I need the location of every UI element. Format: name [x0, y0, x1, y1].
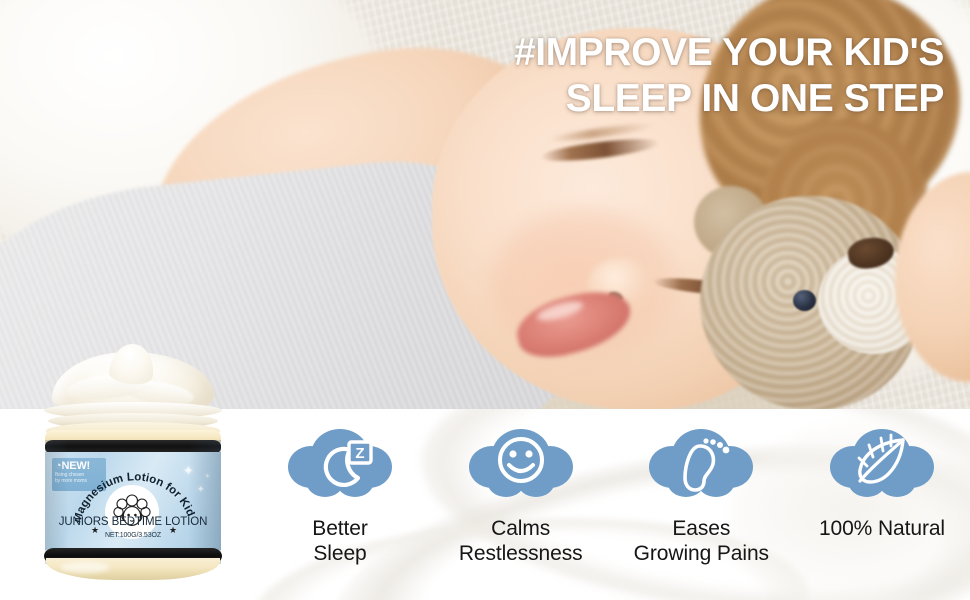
product-name: JUNIORS BEDTIME LOTION	[45, 516, 221, 529]
benefits-list: Z Better Sleep	[252, 423, 970, 593]
cloud-badge	[462, 423, 580, 507]
benefit-item-growing-pains: Eases Growing Pains	[613, 423, 789, 566]
benefit-item-better-sleep: Z Better Sleep	[252, 423, 428, 566]
benefit-label-line-2: Restlessness	[459, 541, 583, 566]
leaf-icon	[823, 423, 941, 507]
benefit-label-line-2: Growing Pains	[634, 541, 769, 566]
benefit-label-line-1: Calms	[459, 516, 583, 541]
hero-photo: #IMPROVE YOUR KID'S SLEEP IN ONE STEP	[0, 0, 970, 409]
benefit-label-line-1: Eases	[634, 516, 769, 541]
svg-text:Z: Z	[355, 445, 364, 462]
sparkle-icon: ✦	[205, 472, 210, 482]
teddy-bear-eye	[793, 290, 816, 311]
page-title: #IMPROVE YOUR KID'S SLEEP IN ONE STEP	[364, 30, 944, 122]
net-weight: NET:100G/3.53OZ	[45, 531, 221, 540]
cloud-badge: Z	[281, 423, 399, 507]
benefit-label-line-1: Better	[312, 516, 367, 541]
jar-label: ✦ ✦ ✦ ✦ ◔NEW! Being chosen by more moms …	[45, 452, 221, 550]
benefit-item-natural: 100% Natural	[794, 423, 970, 541]
headline-line-1: #IMPROVE YOUR KID'S	[364, 30, 944, 76]
footprint-icon	[642, 423, 760, 507]
benefit-label: Calms Restlessness	[459, 516, 583, 566]
smiley-face-icon	[462, 423, 580, 507]
benefit-label: 100% Natural	[819, 516, 945, 541]
product-banner: #IMPROVE YOUR KID'S SLEEP IN ONE STEP	[0, 0, 970, 600]
benefit-item-calms-restlessness: Calms Restlessness	[433, 423, 609, 566]
jar-base-highlight	[60, 562, 110, 573]
headline-line-2: SLEEP IN ONE STEP	[364, 76, 944, 122]
benefit-label: Better Sleep	[312, 516, 367, 566]
moon-zzz-icon: Z	[281, 423, 399, 507]
benefit-label-line-1: 100% Natural	[819, 516, 945, 541]
benefit-label-line-2: Sleep	[312, 541, 367, 566]
benefit-label: Eases Growing Pains	[634, 516, 769, 566]
cloud-badge	[823, 423, 941, 507]
sparkle-icon: ✦	[197, 484, 205, 494]
product-jar: ✦ ✦ ✦ ✦ ◔NEW! Being chosen by more moms …	[38, 352, 228, 586]
cloud-badge	[642, 423, 760, 507]
